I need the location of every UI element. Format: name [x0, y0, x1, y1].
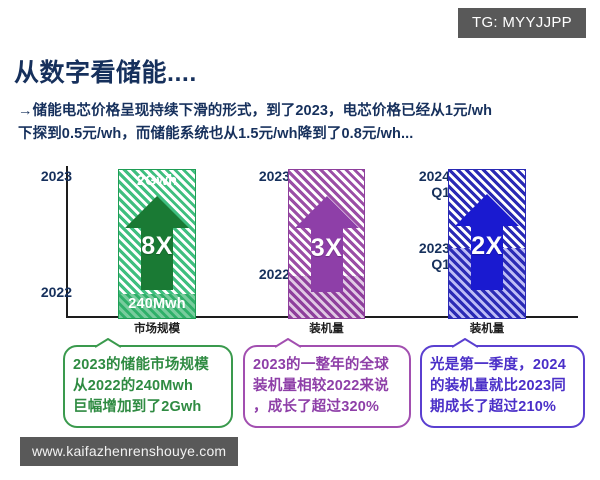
axis-label-col3-top-year: 2024 [390, 168, 450, 184]
callout3-notch-icon [452, 338, 478, 348]
callout2-notch-icon [275, 338, 301, 348]
bar1-bottom-value-label: 240Mwh [119, 296, 195, 312]
callout-installed-2023: 2023的一整年的全球 装机量相较2022来说 ，成长了超过320% [243, 345, 411, 428]
bar2-multiplier-label: 3X [293, 234, 361, 263]
site-url-watermark: www.kaifazhenrenshouye.com [20, 437, 238, 466]
callout3-line-2: 的装机量就比2023同 [430, 376, 577, 397]
callout2-line-3: ，成长了超过320% [253, 397, 403, 418]
bar2-footer-label: 装机量 [288, 320, 365, 336]
bar2-growth-arrow-icon: 3X [293, 194, 361, 294]
callout1-notch-icon [95, 338, 121, 348]
callout1-line-1: 2023的储能市场规模 [73, 355, 225, 376]
bar3-footer-label: 装机量 [448, 320, 526, 336]
callout2-line-1: 2023的一整年的全球 [253, 355, 403, 376]
bar1-top-value-label: 2Gwh [119, 173, 195, 189]
page-title: 从数字看储能.... [14, 53, 197, 89]
axis-label-col3-top-quarter: Q1 [390, 184, 450, 200]
bar-installed-capacity-2024q1: 2X [448, 169, 526, 319]
bar1-footer-label: 市场规模 [118, 320, 196, 336]
callout3-line-3: 期成长了超过210% [430, 397, 577, 418]
callout-market-size: 2023的储能市场规模 从2022的240Mwh 巨幅增加到了2Gwh [63, 345, 233, 428]
callout2-line-2: 装机量相较2022来说 [253, 376, 403, 397]
axis-label-col3-bottom: 2023 Q1 [390, 240, 450, 272]
callout1-line-3: 巨幅增加到了2Gwh [73, 397, 225, 418]
bar1-growth-arrow-icon: 8X [123, 194, 191, 292]
axis-label-col3-bottom-quarter: Q1 [390, 256, 450, 272]
axis-label-col1-bottom: 2022 [12, 284, 72, 300]
bar-installed-capacity-2023: 3X [288, 169, 365, 319]
callout3-line-1: 光是第一季度，2024 [430, 355, 577, 376]
subtitle-line-2: 下探到0.5元/wh，而储能系统也从1.5元/wh降到了0.8元/wh... [18, 123, 584, 146]
page-subtitle: →储能电芯价格呈现持续下滑的形式，到了2023，电芯价格已经从1元/wh 下探到… [18, 100, 584, 146]
axis-label-col1-top: 2023 [12, 168, 72, 184]
bar3-multiplier-label: 2X [453, 232, 521, 261]
callout-installed-2024q1: 光是第一季度，2024 的装机量就比2023同 期成长了超过210% [420, 345, 585, 428]
infographic-root: TG: MYYJJPP 从数字看储能.... →储能电芯价格呈现持续下滑的形式，… [0, 0, 600, 480]
axis-label-col3-top: 2024 Q1 [390, 168, 450, 200]
axis-label-col3-bottom-year: 2023 [390, 240, 450, 256]
axis-label-col2-top: 2023 [230, 168, 290, 184]
bar3-growth-arrow-icon: 2X [453, 192, 521, 292]
bar-market-size: 2Gwh 240Mwh 8X [118, 169, 196, 319]
bar-chart: 2023 2022 2023 2022 2024 Q1 2023 Q1 2Gwh… [60, 166, 578, 321]
bar1-multiplier-label: 8X [123, 232, 191, 261]
subtitle-line-1: →储能电芯价格呈现持续下滑的形式，到了2023，电芯价格已经从1元/wh [18, 100, 584, 123]
axis-label-col2-bottom: 2022 [230, 266, 290, 282]
callout1-line-2: 从2022的240Mwh [73, 376, 225, 397]
telegram-watermark-badge: TG: MYYJJPP [458, 8, 586, 38]
